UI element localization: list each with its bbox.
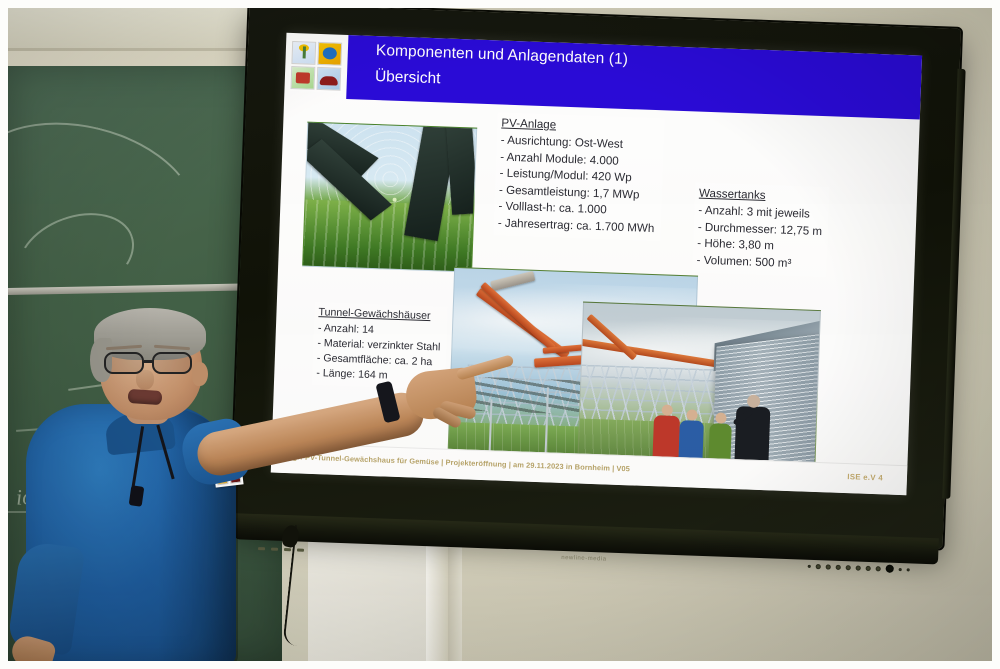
- fraunhofer-ise-logo-grid: [288, 39, 344, 93]
- logo-cell-building-icon: [290, 66, 315, 90]
- eyeglass-lens: [104, 352, 144, 374]
- text-block-wassertanks: Wassertanks - Anzahl: 3 mit jeweils - Du…: [692, 182, 830, 277]
- bullet-item: - Volumen: 500 m³: [696, 252, 821, 273]
- eyeglass-bridge: [144, 360, 154, 363]
- presenter-mouth: [128, 389, 163, 405]
- slide-subtitle: Übersicht: [375, 68, 441, 88]
- footer-page-label: ISE e.V 4: [847, 472, 883, 482]
- logo-cell-globe-icon: [317, 42, 342, 66]
- person-arm: [732, 408, 753, 426]
- greenhouse-crop-rows: [303, 200, 473, 272]
- presenter-person: [8, 308, 528, 661]
- text-block-pv-anlage: PV-Anlage - Ausrichtung: Ost-West - Anza…: [493, 112, 664, 241]
- eyeglass-lens: [152, 352, 192, 374]
- photograph-content: 24 ion newline-media Komponenten und Anl…: [8, 8, 992, 661]
- index-finger: [456, 354, 515, 381]
- logo-cell-car-icon: [316, 67, 341, 91]
- person-head: [747, 394, 760, 407]
- pv-panel: [446, 122, 478, 215]
- lanyard-badge-holder: [129, 485, 145, 507]
- eyeglasses: [102, 352, 200, 374]
- photograph-frame: 24 ion newline-media Komponenten und Anl…: [0, 0, 1000, 669]
- slide-title: Komponenten und Anlagendaten (1): [376, 42, 629, 69]
- photo-greenhouse-interior: [302, 122, 477, 273]
- logo-cell-plant-icon: [291, 41, 316, 65]
